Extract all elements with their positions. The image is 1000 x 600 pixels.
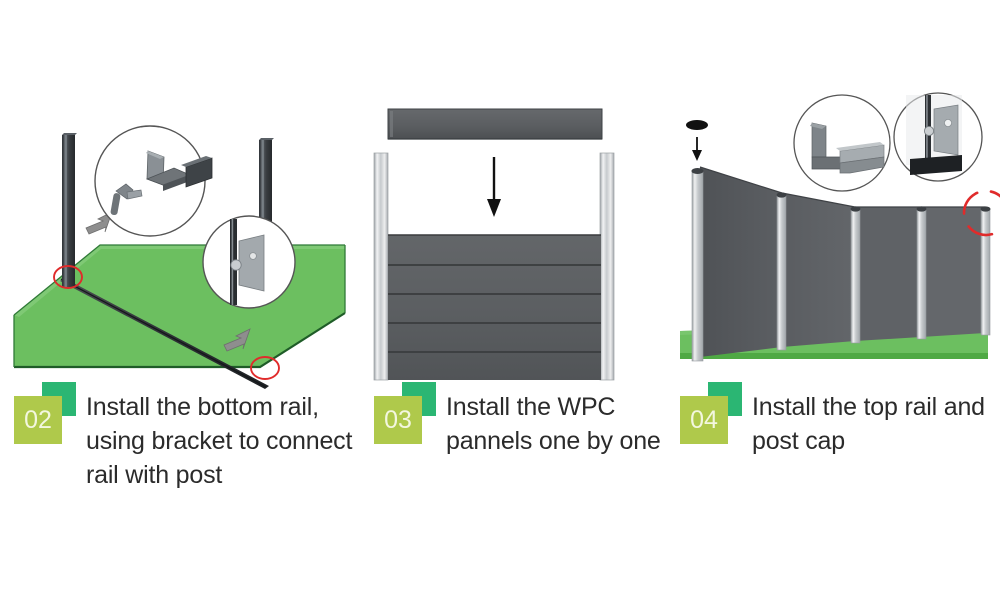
bolt-hole	[944, 119, 951, 126]
fence-section-left	[700, 167, 782, 357]
post-body	[374, 153, 388, 380]
step-04-illustration	[670, 95, 1000, 380]
step-02-number: 02	[14, 396, 62, 444]
post-1	[692, 171, 703, 361]
fence-panel	[855, 207, 921, 341]
stacked-panels	[388, 235, 601, 380]
post-cap-drop-arrow	[686, 120, 708, 161]
panel-stack-body	[388, 235, 601, 380]
post-5	[981, 209, 990, 335]
post-body	[600, 153, 614, 380]
step-02-caption-text: Install the bottom rail, using bracket t…	[86, 382, 358, 492]
right-post	[600, 153, 614, 380]
step-03-number: 03	[374, 396, 422, 444]
bracket-plate	[239, 235, 264, 291]
floating-top-panel	[388, 109, 602, 139]
bracket-rail-callout	[794, 95, 890, 191]
step-04-caption: 04 Install the top rail and post cap	[680, 382, 1000, 458]
step-03-caption-text: Install the WPC pannels one by one	[446, 382, 690, 458]
step-04-number: 04	[680, 396, 728, 444]
step-03-badge: 03	[374, 382, 436, 444]
hammer-bracket-callout	[95, 126, 212, 236]
bottom-rail-scene	[0, 95, 360, 380]
bolt-hole	[250, 253, 257, 260]
post-cap-1	[692, 168, 704, 174]
post-cap-4	[917, 206, 927, 211]
post-bracket-callout	[894, 93, 982, 181]
top-rail-post-cap-scene	[670, 95, 1000, 380]
step-04-caption-text: Install the top rail and post cap	[752, 382, 1000, 458]
post-cap-2	[777, 192, 787, 197]
step-02-block: 02 Install the bottom rail, using bracke…	[0, 0, 360, 600]
post-4	[917, 209, 926, 339]
down-arrow	[487, 157, 501, 217]
step-02-caption: 02 Install the bottom rail, using bracke…	[14, 382, 360, 492]
step-02-illustration	[0, 95, 360, 380]
fence-section-middle	[782, 193, 855, 347]
bolt-head	[924, 126, 933, 135]
left-post	[374, 153, 388, 380]
post-bracket-callout	[203, 216, 295, 308]
arrow-head	[692, 150, 702, 161]
post-2	[777, 195, 786, 350]
step-03-block: 03 Install the WPC pannels one by one	[360, 0, 690, 600]
post-cap-icon	[686, 120, 708, 130]
step-04-badge: 04	[680, 382, 742, 444]
fence-panel	[782, 193, 855, 347]
step-04-block: 04 Install the top rail and post cap	[670, 0, 1000, 600]
bracket-plate	[934, 105, 958, 155]
left-post	[62, 133, 77, 287]
step-03-caption: 03 Install the WPC pannels one by one	[374, 382, 690, 458]
fence-panel	[921, 207, 985, 337]
post-3	[851, 209, 860, 343]
fence-panel	[700, 167, 782, 357]
bolt-head	[231, 260, 241, 270]
step-02-badge: 02	[14, 382, 76, 444]
post-cap-3	[851, 206, 861, 211]
step-03-illustration	[360, 95, 690, 380]
diagram-canvas: 02 Install the bottom rail, using bracke…	[0, 0, 1000, 600]
post-cap-5	[981, 206, 991, 211]
wpc-panel-scene	[360, 95, 690, 380]
